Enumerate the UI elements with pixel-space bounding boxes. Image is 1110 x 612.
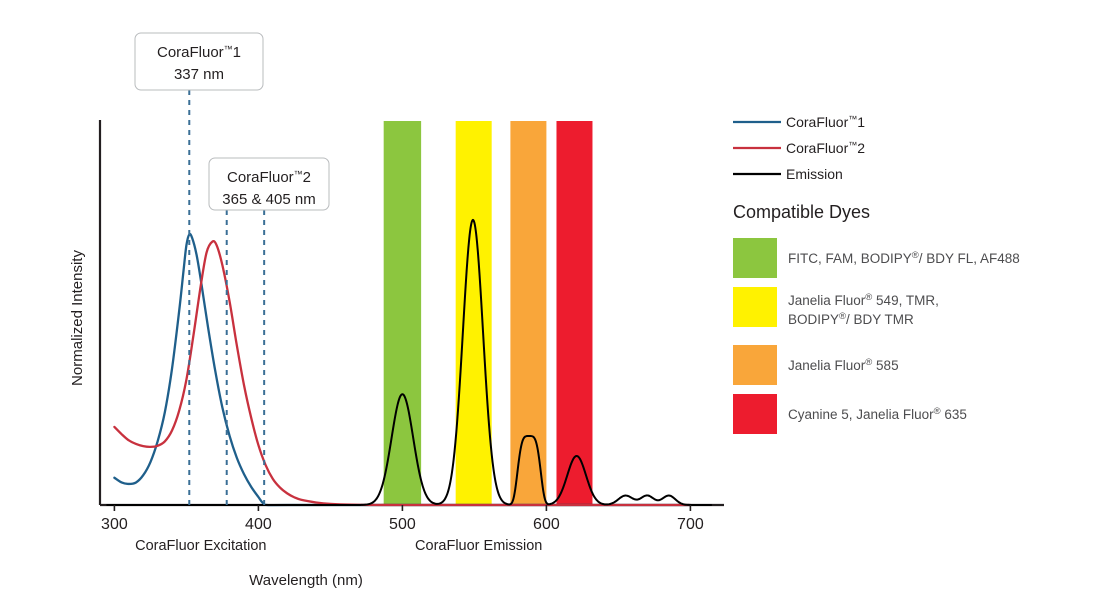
registered-icon: ® (934, 406, 941, 417)
x-tick-label-500: 500 (389, 516, 416, 533)
dye-label-1-1: BODIPY®/ BDY TMR (788, 311, 914, 328)
legend-label-2: Emission (786, 166, 843, 182)
axis-section-label-1: CoraFluor Emission (415, 538, 542, 554)
axis-section-label-0: CoraFluor Excitation (135, 538, 266, 554)
x-tick-label-600: 600 (533, 516, 560, 533)
registered-icon: ® (839, 311, 846, 322)
registered-icon: ® (865, 357, 872, 368)
excitation-markers-layer: CoraFluor™1337 nmCoraFluor™2365 & 405 nm (135, 33, 329, 505)
dye-swatch-1 (733, 287, 777, 327)
trademark-icon: ™ (848, 140, 857, 150)
x-axis-title: Wavelength (nm) (249, 572, 363, 589)
dye-label-2-0: Janelia Fluor® 585 (788, 357, 899, 374)
dye-swatch-3 (733, 394, 777, 434)
x-tick-label-300: 300 (101, 516, 128, 533)
compatible-dyes-heading: Compatible Dyes (733, 202, 870, 222)
yellow-band (456, 121, 492, 505)
legend-label-0: CoraFluor™1 (786, 114, 865, 130)
dye-swatch-2 (733, 345, 777, 385)
dye-swatch-0 (733, 238, 777, 278)
red-band (556, 121, 592, 505)
dye-label-3-0: Cyanine 5, Janelia Fluor® 635 (788, 406, 967, 423)
y-axis-title: Normalized Intensity (69, 250, 86, 386)
x-tick-label-400: 400 (245, 516, 272, 533)
trademark-icon: ™ (224, 44, 233, 54)
spectra-figure: CoraFluor™1337 nmCoraFluor™2365 & 405 nm… (0, 0, 1110, 612)
registered-icon: ® (865, 292, 872, 303)
callout-value-coraflour1: 337 nm (174, 66, 224, 83)
orange-band (510, 121, 546, 505)
dye-label-1-0: Janelia Fluor® 549, TMR, (788, 292, 939, 309)
dye-label-0-0: FITC, FAM, BODIPY®/ BDY FL, AF488 (788, 250, 1020, 267)
legend-layer: CoraFluor™1CoraFluor™2EmissionCompatible… (733, 114, 1020, 434)
callout-value-coraflour2: 365 & 405 nm (222, 191, 315, 208)
trademark-icon: ™ (848, 114, 857, 124)
x-tick-label-700: 700 (677, 516, 704, 533)
legend-label-1: CoraFluor™2 (786, 140, 865, 156)
trademark-icon: ™ (294, 169, 303, 179)
registered-icon: ® (912, 250, 919, 261)
